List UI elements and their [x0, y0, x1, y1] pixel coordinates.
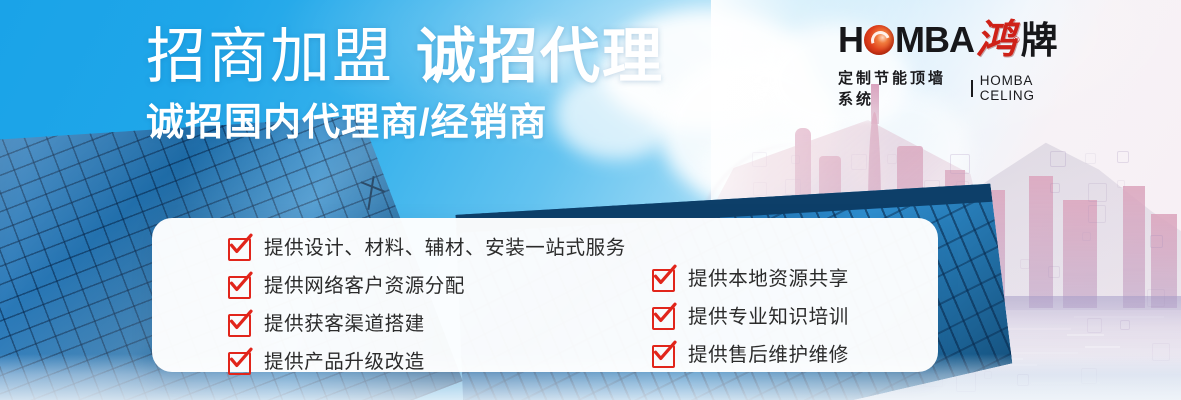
logo-tagline-divider: [971, 80, 973, 97]
checkbox-checked-icon: [228, 352, 251, 375]
logo-char-pai: 牌: [1021, 22, 1058, 59]
logo-tagline-en: HOMBA CELING: [980, 73, 1078, 103]
checkbox-checked-icon: [228, 276, 251, 299]
logo-tagline-cn: 定制节能顶墙系统: [838, 67, 964, 109]
checkbox-checked-icon: [652, 269, 675, 292]
headline-part-1: 招商加盟: [146, 27, 394, 87]
feature-item: 提供网络客户资源分配: [228, 270, 626, 304]
headline-part-2: 诚招代理: [416, 27, 664, 87]
feature-item-label: 提供专业知识培训: [688, 308, 849, 328]
feature-item: 提供获客渠道搭建: [228, 308, 626, 342]
features-card: 提供设计、材料、辅材、安装一站式服务提供网络客户资源分配提供获客渠道搭建提供产品…: [152, 218, 938, 372]
checkbox-checked-icon: [228, 314, 251, 337]
features-columns: 提供设计、材料、辅材、安装一站式服务提供网络客户资源分配提供获客渠道搭建提供产品…: [152, 218, 938, 372]
logo-wordmark: H MBA: [838, 22, 974, 58]
features-column-left: 提供设计、材料、辅材、安装一站式服务提供网络客户资源分配提供获客渠道搭建提供产品…: [228, 232, 626, 384]
subheadline: 诚招国内代理商/经销商: [146, 104, 548, 142]
promo-banner: 招商加盟 诚招代理 诚招国内代理商/经销商 H MBA 鸿 ® 牌 定制节能顶墙…: [0, 0, 1181, 400]
logo-tagline-row: 定制节能顶墙系统 HOMBA CELING: [838, 67, 1078, 109]
headline: 招商加盟 诚招代理: [146, 27, 664, 87]
feature-item-label: 提供本地资源共享: [688, 270, 849, 290]
feature-item: 提供售后维护维修: [652, 339, 849, 373]
feature-item: 提供专业知识培训: [652, 301, 849, 335]
checkbox-checked-icon: [652, 345, 675, 368]
logo-wordmark-row: H MBA 鸿 ® 牌: [838, 18, 1078, 62]
logo-char-hong: 鸿: [976, 20, 1016, 60]
feature-item: 提供产品升级改造: [228, 346, 626, 380]
registered-trademark-icon: ®: [1013, 36, 1020, 45]
brand-logo: H MBA 鸿 ® 牌 定制节能顶墙系统 HOMBA CELING: [838, 18, 1078, 109]
logo-letter-h: H: [838, 22, 863, 58]
feature-item-label: 提供获客渠道搭建: [264, 315, 425, 335]
feature-item: 提供本地资源共享: [652, 263, 849, 297]
checkbox-checked-icon: [652, 307, 675, 330]
feature-item-label: 提供网络客户资源分配: [264, 277, 465, 297]
feature-item: 提供设计、材料、辅材、安装一站式服务: [228, 232, 626, 266]
logo-spiral-o-icon: [864, 25, 894, 55]
logo-chinese-mark: 鸿 ® 牌: [976, 20, 1058, 60]
feature-item-label: 提供设计、材料、辅材、安装一站式服务: [264, 239, 626, 259]
feature-item-label: 提供产品升级改造: [264, 353, 425, 373]
features-column-right: 提供本地资源共享提供专业知识培训提供售后维护维修: [652, 263, 849, 377]
feature-item-label: 提供售后维护维修: [688, 346, 849, 366]
checkbox-checked-icon: [228, 238, 251, 261]
logo-letters-mba: MBA: [895, 22, 974, 58]
